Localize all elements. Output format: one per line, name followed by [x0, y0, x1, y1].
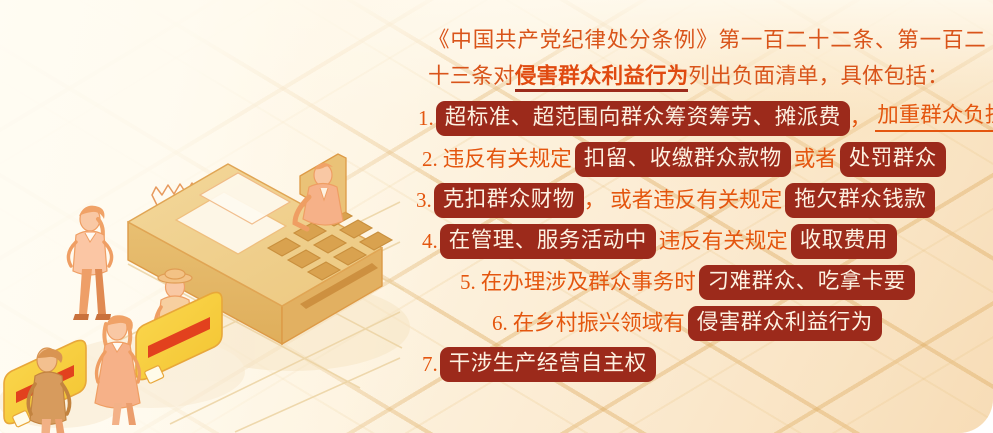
highlight-pill: 刁难群众、吃拿卡要	[699, 265, 915, 301]
text-content: 《中国共产党纪律处分条例》第一百二十二条、第一百二十三条对侵害群众利益行为列出负…	[408, 22, 986, 417]
plain-phrase: 或者	[791, 149, 840, 171]
list-item-index: 4.	[422, 231, 438, 252]
highlight-pill: 干涉生产经营自主权	[440, 347, 656, 383]
list-item-index: 5.	[460, 272, 476, 293]
list-item: 4.在管理、服务活动中违反有关规定收取费用	[408, 221, 986, 262]
poster-root: 吃拿卡要	[0, 0, 993, 433]
lede-paragraph: 《中国共产党纪律处分条例》第一百二十二条、第一百二十三条对侵害群众利益行为列出负…	[408, 22, 986, 94]
lede-part-2: 列出负面清单，具体包括：	[688, 64, 948, 88]
highlight-pill: 在管理、服务活动中	[440, 224, 656, 260]
highlight-pill: 收取费用	[791, 224, 897, 260]
underlined-phrase: 加重群众负担	[875, 105, 993, 132]
plain-phrase: 或者违反有关规定	[607, 190, 785, 212]
punctuation: ，	[850, 108, 874, 130]
list-item: 3.克扣群众财物，或者违反有关规定拖欠群众钱款	[408, 180, 986, 221]
highlight-pill: 超标准、超范围向群众筹资筹劳、摊派费	[436, 101, 850, 137]
plain-phrase: 违反有关规定	[656, 231, 791, 253]
plain-phrase: 在办理涉及群众事务时	[478, 272, 699, 294]
list-item-index: 6.	[492, 313, 508, 334]
list-item: 2.违反有关规定扣留、收缴群众款物或者处罚群众	[408, 139, 986, 180]
plain-phrase: 在乡村振兴领域有	[510, 313, 688, 335]
list-item-index: 2.	[422, 149, 438, 170]
list-item: 1.超标准、超范围向群众筹资筹劳、摊派费，加重群众负担	[408, 98, 986, 139]
plain-phrase: 违反有关规定	[440, 149, 575, 171]
illustration-pos-terminal-scene: 吃拿卡要	[0, 72, 410, 433]
person-standing-woman	[68, 206, 111, 320]
highlight-pill: 侵害群众利益行为	[688, 306, 882, 342]
list-item-index: 7.	[422, 354, 438, 375]
highlight-pill: 扣留、收缴群众款物	[575, 142, 791, 178]
list-item: 6.在乡村振兴领域有侵害群众利益行为	[408, 303, 986, 344]
lede-emphasis: 侵害群众利益行为	[515, 64, 689, 92]
highlight-pill: 拖欠群众钱款	[785, 183, 935, 219]
list-item: 5.在办理涉及群众事务时刁难群众、吃拿卡要	[408, 262, 986, 303]
punctuation: ，	[584, 190, 608, 212]
highlight-pill: 处罚群众	[840, 142, 946, 178]
highlight-pill: 克扣群众财物	[434, 183, 584, 219]
list-item-index: 3.	[416, 190, 432, 211]
list-item-index: 1.	[418, 108, 434, 129]
negative-list: 1.超标准、超范围向群众筹资筹劳、摊派费，加重群众负担2.违反有关规定扣留、收缴…	[408, 98, 986, 385]
list-item: 7.干涉生产经营自主权	[408, 344, 986, 385]
